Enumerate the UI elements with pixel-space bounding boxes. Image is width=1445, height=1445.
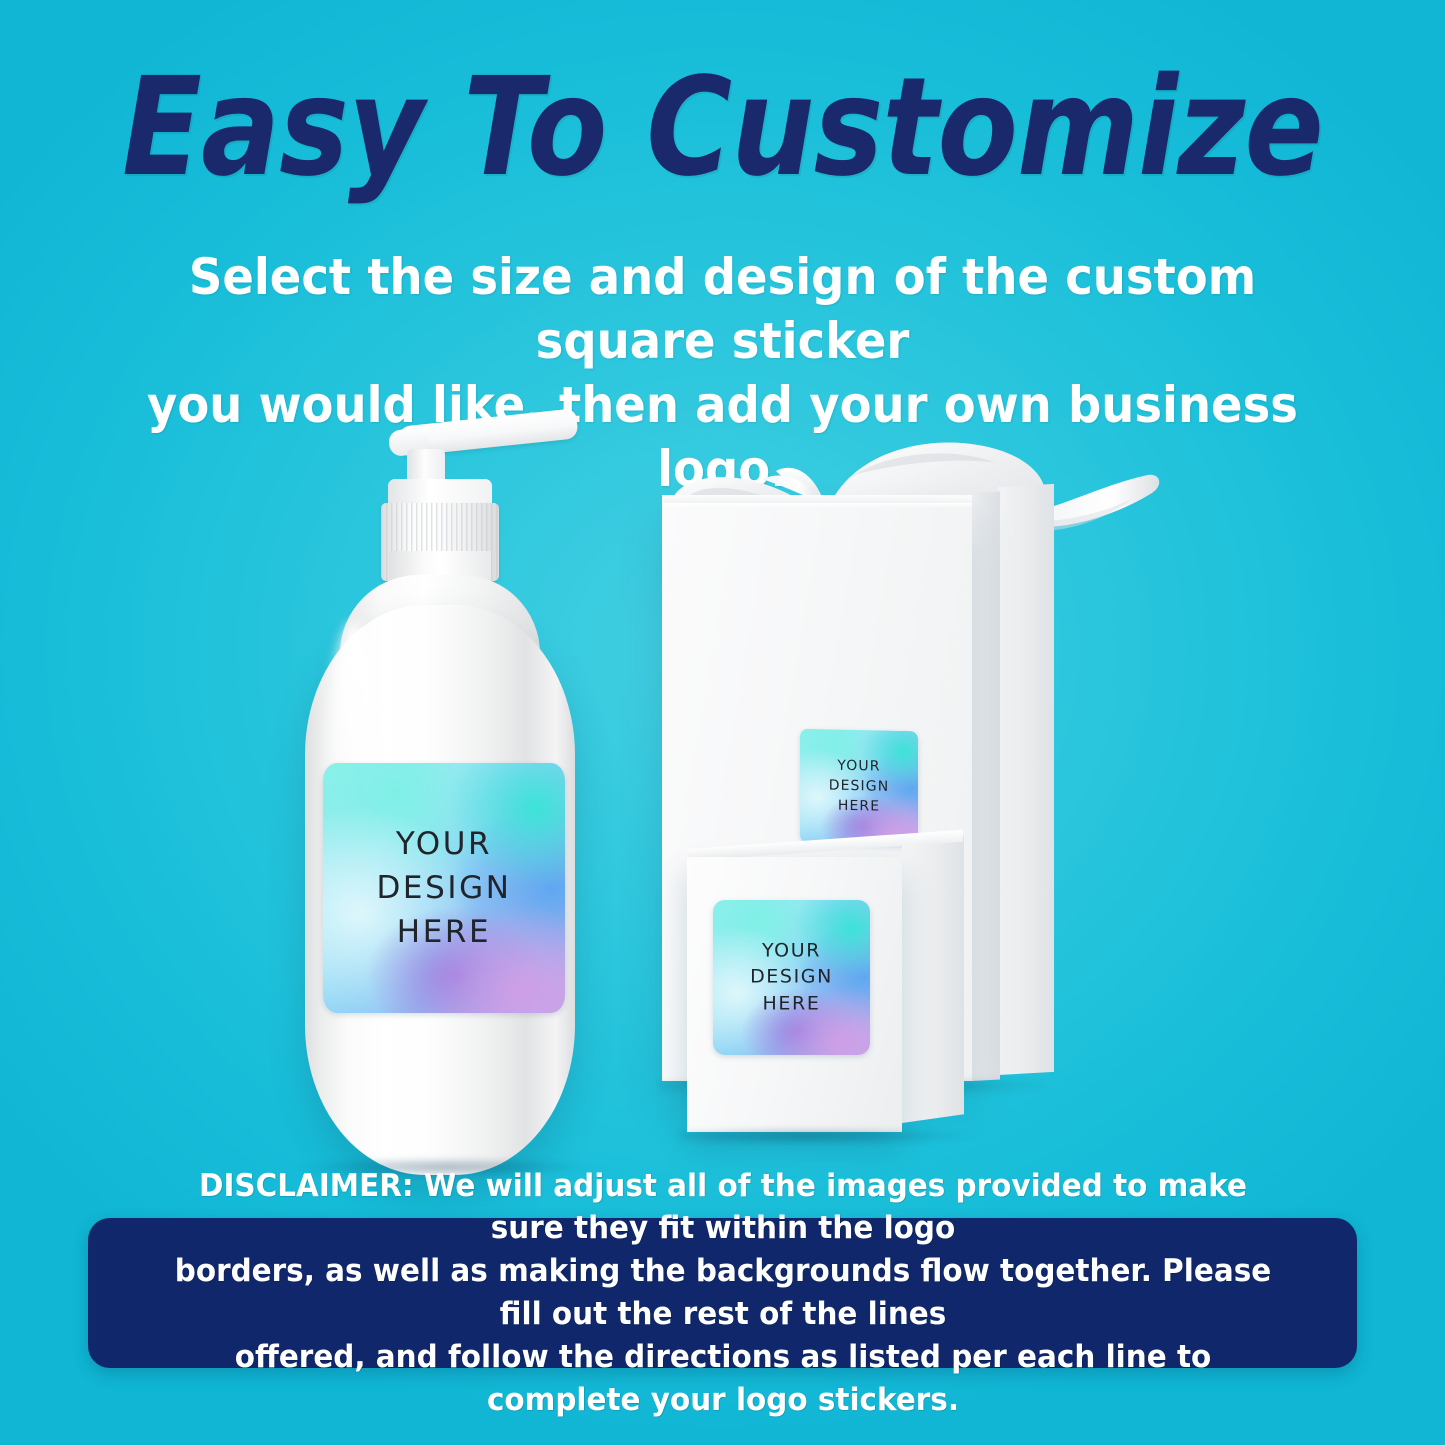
sticker-line-2: DESIGN [713,964,870,991]
sticker-text: YOUR DESIGN HERE [323,822,565,954]
sticker-line-2: DESIGN [800,776,918,798]
sticker-text: YOUR DESIGN HERE [713,937,870,1018]
product-scene: YOUR DESIGN HERE YOUR DESIGN HERE [0,395,1445,1185]
disclaimer-banner: DISCLAIMER: We will adjust all of the im… [88,1218,1357,1368]
product-box-shadow [679,1127,979,1145]
gift-box-side-panel [972,492,1000,1081]
sticker-line-3: HERE [800,796,918,818]
sticker-line-1: YOUR [800,756,918,778]
disclaimer-line-2: borders, as well as making the backgroun… [162,1250,1283,1336]
sticker-line-3: HERE [713,991,870,1018]
sticker-text: YOUR DESIGN HERE [800,756,918,818]
sticker-on-bottle-label[interactable]: YOUR DESIGN HERE [323,763,565,1013]
gift-box-rear-panel [998,484,1054,1075]
disclaimer-line-1: DISCLAIMER: We will adjust all of the im… [162,1165,1283,1251]
sticker-line-3: HERE [323,910,565,954]
disclaimer-text: DISCLAIMER: We will adjust all of the im… [162,1165,1283,1422]
subtitle-line-1: Select the size and design of the custom… [139,245,1306,373]
sticker-on-product-box[interactable]: YOUR DESIGN HERE [713,900,870,1055]
sticker-on-gift-box[interactable]: YOUR DESIGN HERE [800,729,918,845]
sticker-line-1: YOUR [323,822,565,866]
sticker-line-2: DESIGN [323,866,565,910]
page-title: Easy To Customize [101,60,1344,196]
sticker-line-1: YOUR [713,937,870,964]
small-product-box: YOUR DESIGN HERE [665,845,975,1145]
pump-bottle: YOUR DESIGN HERE [285,415,615,1175]
product-box-side-panel [902,836,964,1123]
promo-graphic: Easy To Customize Select the size and de… [0,0,1445,1445]
disclaimer-line-3: offered, and follow the directions as li… [162,1336,1283,1422]
